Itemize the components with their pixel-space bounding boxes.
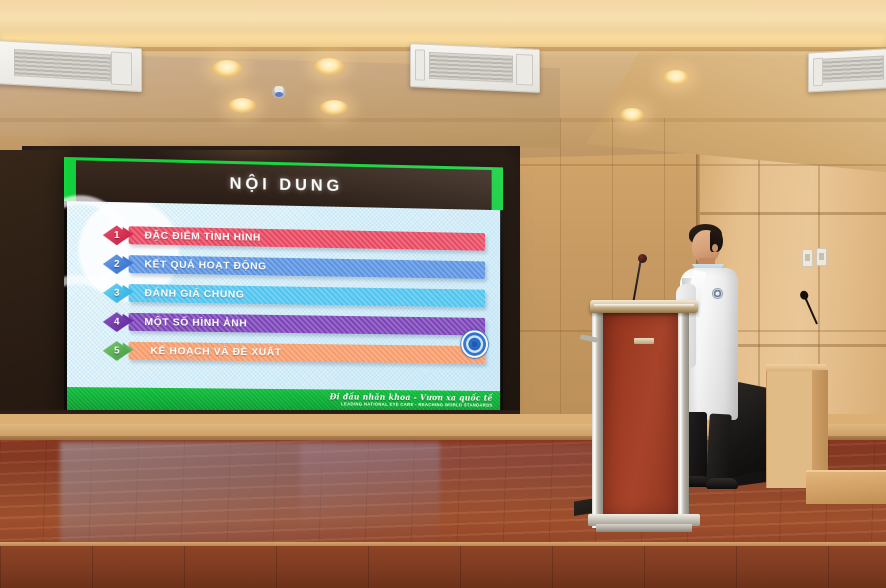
- agenda-number-1: 1: [114, 230, 120, 241]
- podium-nameplate: [634, 338, 654, 344]
- agenda-bar-4: MỘT SỐ HÌNH ẢNH: [129, 313, 485, 336]
- agenda-bar-5: KẾ HOẠCH VÀ ĐỀ XUẤT: [129, 342, 485, 364]
- downlight: [663, 70, 689, 85]
- agenda-label-5: KẾ HOẠCH VÀ ĐỀ XUẤT: [129, 345, 282, 359]
- agenda-item-5[interactable]: 5 KẾ HOẠCH VÀ ĐỀ XUẤT: [103, 339, 485, 366]
- agenda-bar-2: KẾT QUẢ HOẠT ĐỘNG: [129, 256, 485, 280]
- downlight: [320, 100, 348, 115]
- projection-screen[interactable]: NỘI DUNG 1 ĐẶC ĐIỂM TÌNH HÌNH: [64, 157, 503, 418]
- podium-rail-right: [678, 312, 689, 528]
- presenter-shoe-right: [706, 478, 738, 489]
- downlight: [212, 60, 242, 77]
- ac-cassette-unit-left: [0, 40, 142, 92]
- ac-cassette-unit-center: [410, 43, 540, 93]
- presentation-hall-scene: NỘI DUNG 1 ĐẶC ĐIỂM TÌNH HÌNH: [0, 0, 886, 588]
- agenda-number-3: 3: [114, 288, 120, 299]
- agenda-number-badge-1: 1: [103, 225, 131, 245]
- agenda-number-badge-5: 5: [103, 341, 131, 361]
- stage-step-block: [806, 470, 886, 504]
- agenda-label-2: KẾT QUẢ HOẠT ĐỘNG: [129, 258, 267, 272]
- agenda-label-4: MỘT SỐ HÌNH ẢNH: [129, 316, 248, 330]
- slide-nội-dung: NỘI DUNG 1 ĐẶC ĐIỂM TÌNH HÌNH: [64, 157, 503, 418]
- downlight: [314, 58, 344, 75]
- agenda-label-1: ĐẶC ĐIỂM TÌNH HÌNH: [129, 230, 261, 244]
- agenda-item-4[interactable]: 4 MỘT SỐ HÌNH ẢNH: [103, 310, 485, 338]
- agenda-number-2: 2: [114, 259, 120, 270]
- presenter-leg-right: [706, 413, 732, 482]
- agenda-bar-1: ĐẶC ĐIỂM TÌNH HÌNH: [129, 227, 485, 251]
- eye-institute-logo: [460, 329, 488, 359]
- microphone-head: [638, 254, 647, 263]
- agenda-bar-3: ĐÁNH GIÁ CHUNG: [129, 284, 485, 307]
- floor-reflection-secondary: [300, 444, 600, 544]
- podium: [590, 300, 698, 536]
- stage-front-face: [0, 546, 886, 588]
- footer-tagline: Đi đầu nhãn khoa - Vươn xa quốc tế LEADI…: [330, 392, 493, 408]
- slide-title: NỘI DUNG: [67, 170, 500, 199]
- wall-switch-right[interactable]: [816, 248, 827, 266]
- podium-rail-left: [592, 312, 603, 528]
- coat-emblem-badge: [712, 288, 723, 299]
- presenter-ear: [712, 244, 718, 252]
- agenda-number-badge-3: 3: [103, 283, 131, 303]
- stage-backdrop-panel-left: [0, 150, 70, 418]
- slide-body: 1 ĐẶC ĐIỂM TÌNH HÌNH 2 KẾT QU: [67, 201, 500, 391]
- agenda-number-badge-2: 2: [103, 254, 131, 274]
- agenda-item-3[interactable]: 3 ĐÁNH GIÁ CHUNG: [103, 281, 485, 310]
- agenda-number-5: 5: [114, 345, 120, 356]
- agenda-list: 1 ĐẶC ĐIỂM TÌNH HÌNH 2 KẾT QU: [103, 224, 485, 373]
- downlight: [228, 98, 256, 113]
- tagline-english: LEADING NATIONAL EYE CARE - REACHING WOR…: [330, 401, 493, 408]
- agenda-number-4: 4: [114, 317, 120, 328]
- wall-switch-left[interactable]: [802, 249, 813, 267]
- agenda-item-2[interactable]: 2 KẾT QUẢ HOẠT ĐỘNG: [103, 253, 485, 282]
- agenda-label-3: ĐÁNH GIÁ CHUNG: [129, 287, 245, 301]
- agenda-item-1[interactable]: 1 ĐẶC ĐIỂM TÌNH HÌNH: [103, 224, 485, 254]
- smoke-detector: [272, 86, 286, 98]
- podium-base-lower: [596, 524, 692, 532]
- ac-cassette-unit-right: [808, 47, 886, 92]
- podium-top-surface: [590, 300, 698, 313]
- agenda-number-badge-4: 4: [103, 312, 131, 332]
